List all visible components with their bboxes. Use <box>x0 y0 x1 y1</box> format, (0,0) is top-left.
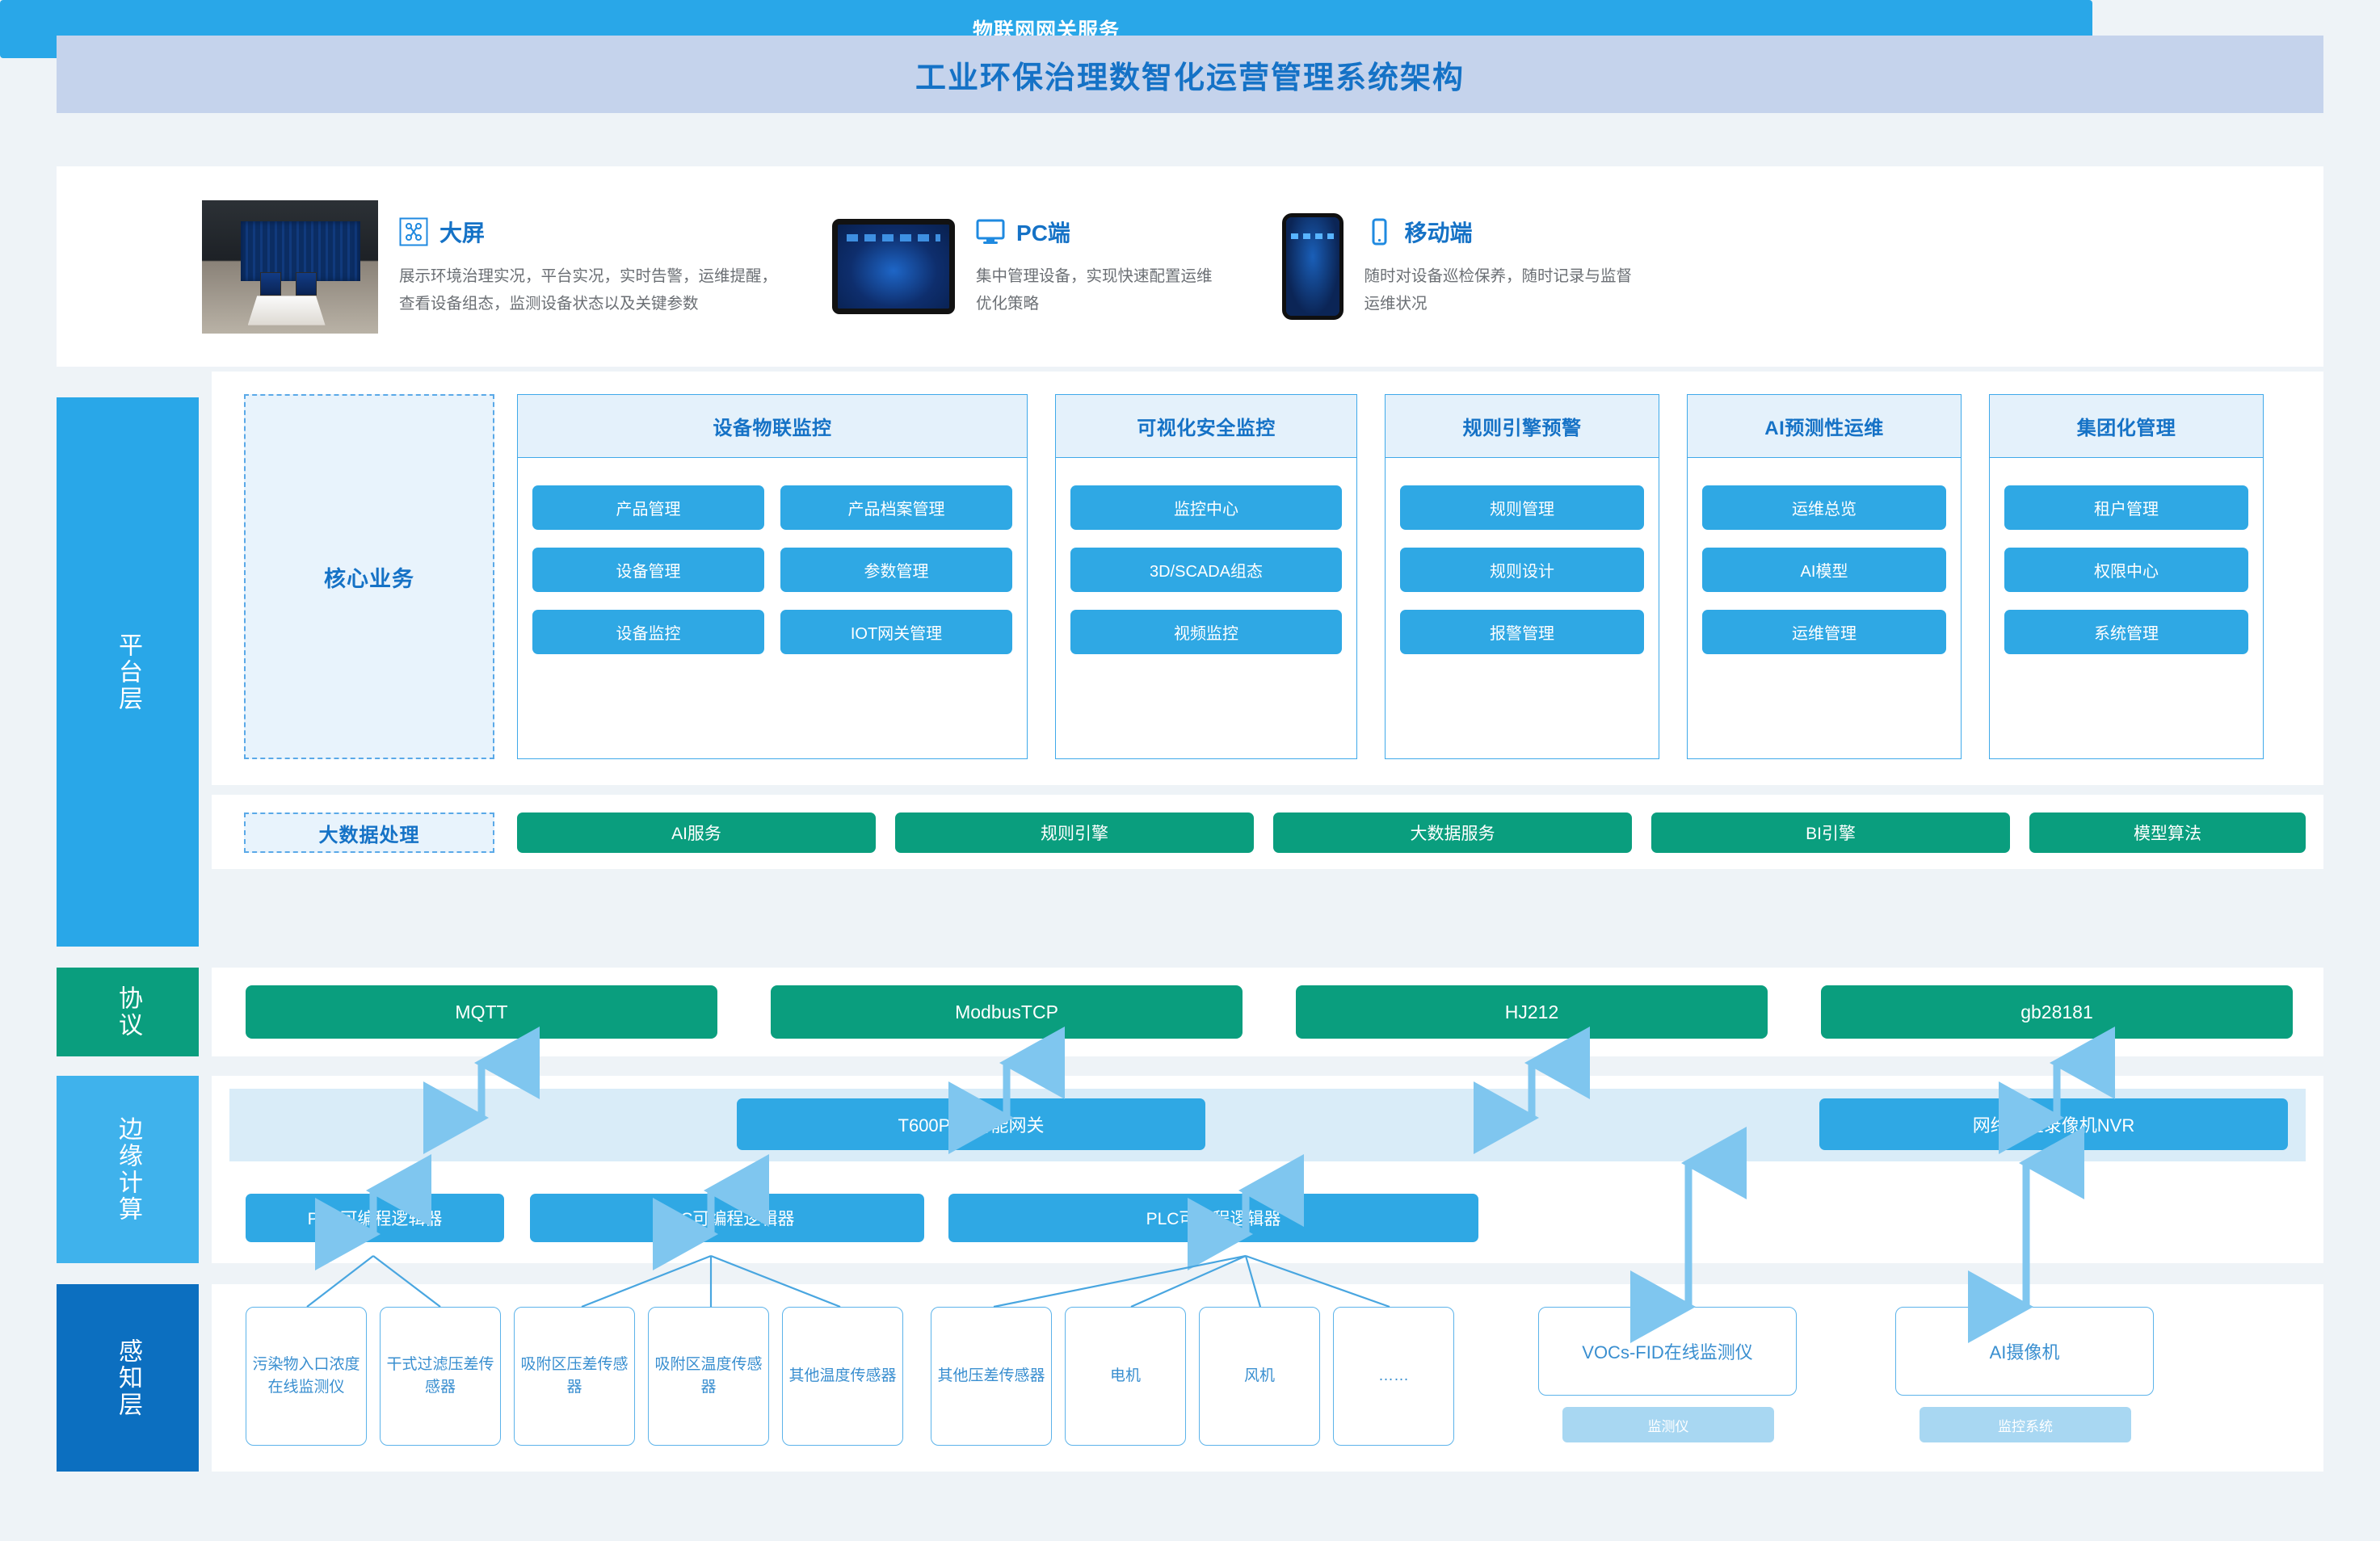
sensor-ai-camera[interactable]: AI摄像机 <box>1895 1307 2154 1396</box>
sensor-ai-camera-tag: 监控系统 <box>1920 1407 2131 1442</box>
module-item[interactable]: 视频监控 <box>1070 610 1342 654</box>
module-item[interactable]: 规则管理 <box>1400 485 1644 530</box>
sensor-other-dp[interactable]: 其他压差传感器 <box>931 1307 1052 1446</box>
module-item[interactable]: 监控中心 <box>1070 485 1342 530</box>
edge-gateway-nvr[interactable]: 网络硬盘录像机NVR <box>1819 1098 2288 1150</box>
module-item[interactable]: 租户管理 <box>2004 485 2248 530</box>
layer-label-edge: 边缘计算 <box>57 1076 199 1263</box>
page-title: 工业环保治理数智化运营管理系统架构 <box>915 52 1465 97</box>
terminal-desc-line1: 随时对设备巡检保养，随时记录与监督 <box>1365 262 1633 290</box>
protocol-hj212[interactable]: HJ212 <box>1296 985 1768 1039</box>
sensor-adsorption-dp[interactable]: 吸附区压差传感器 <box>514 1307 635 1446</box>
module-item[interactable]: 产品管理 <box>532 485 764 530</box>
module-item[interactable]: 报警管理 <box>1400 610 1644 654</box>
terminal-desc-line2: 优化策略 <box>976 290 1213 317</box>
bigdata-item-bigdata-svc[interactable]: 大数据服务 <box>1273 812 1632 853</box>
core-business-label: 核心业务 <box>324 561 414 593</box>
core-business-box: 核心业务 <box>244 394 494 759</box>
sensor-other-temp[interactable]: 其他温度传感器 <box>782 1307 903 1446</box>
module-device-iot-monitoring[interactable]: 设备物联监控 产品管理 产品档案管理 设备管理 参数管理 设备监控 IOT网关管… <box>517 394 1028 759</box>
sensor-fan[interactable]: 风机 <box>1199 1307 1320 1446</box>
edge-plc-2[interactable]: PLC可编程逻辑器 <box>530 1194 924 1242</box>
module-title: 集团化管理 <box>2077 412 2176 440</box>
edge-plc-3[interactable]: PLC可编程逻辑器 <box>948 1194 1478 1242</box>
bigdata-row-panel: 大数据处理 AI服务 规则引擎 大数据服务 BI引擎 模型算法 <box>212 795 2323 869</box>
platform-layer-panel: 核心业务 设备物联监控 产品管理 产品档案管理 设备管理 参数管理 设备监控 I… <box>212 372 2323 785</box>
module-item[interactable]: 系统管理 <box>2004 610 2248 654</box>
terminal-mobile: 移动端 随时对设备巡检保养，随时记录与监督 运维状况 <box>1213 166 1633 367</box>
sensor-inlet-concentration[interactable]: 污染物入口浓度在线监测仪 <box>246 1307 367 1446</box>
module-ai-predictive-maintenance[interactable]: AI预测性运维 运维总览 AI模型 运维管理 <box>1687 394 1962 759</box>
protocol-layer-panel: MQTT ModbusTCP HJ212 gb28181 <box>212 968 2323 1056</box>
terminal-name: 大屏 <box>439 216 485 248</box>
sensor-motor[interactable]: 电机 <box>1065 1307 1186 1446</box>
monitor-icon <box>976 217 1005 246</box>
edge-layer-panel: T600PLC智能网关 网络硬盘录像机NVR PLC可编程逻辑器 PLC可编程逻… <box>212 1076 2323 1263</box>
architecture-diagram: 工业环保治理数智化运营管理系统架构 大屏 展示环境治理实况，平台实况，实时告警，… <box>0 0 2380 1541</box>
layer-label-sensing: 感知层 <box>57 1284 199 1472</box>
sensing-layer-panel: 污染物入口浓度在线监测仪 干式过滤压差传感器 吸附区压差传感器 吸附区温度传感器… <box>212 1284 2323 1472</box>
module-item[interactable]: 设备监控 <box>532 610 764 654</box>
terminal-desc-line2: 运维状况 <box>1365 290 1633 317</box>
page-title-bar: 工业环保治理数智化运营管理系统架构 <box>57 36 2323 113</box>
module-visual-safety-monitoring[interactable]: 可视化安全监控 监控中心 3D/SCADA组态 视频监控 <box>1055 394 1357 759</box>
terminal-pc: PC端 集中管理设备，实现快速配置运维 优化策略 <box>777 166 1213 367</box>
sensor-more[interactable]: …… <box>1333 1307 1454 1446</box>
bigdata-label: 大数据处理 <box>319 819 420 847</box>
terminals-panel: 大屏 展示环境治理实况，平台实况，实时告警，运维提醒， 查看设备组态，监测设备状… <box>57 166 2323 367</box>
terminal-desc-line1: 展示环境治理实况，平台实况，实时告警，运维提醒， <box>399 262 777 290</box>
module-item[interactable]: 权限中心 <box>2004 548 2248 592</box>
module-item[interactable]: 参数管理 <box>780 548 1012 592</box>
sensor-dry-filter-dp[interactable]: 干式过滤压差传感器 <box>380 1307 501 1446</box>
pc-screenshot <box>777 219 955 314</box>
edge-plc-1[interactable]: PLC可编程逻辑器 <box>246 1194 504 1242</box>
bigdata-item-ai-service[interactable]: AI服务 <box>517 812 876 853</box>
big-screen-photo <box>57 200 378 334</box>
module-item[interactable]: 规则设计 <box>1400 548 1644 592</box>
sensor-adsorption-temp[interactable]: 吸附区温度传感器 <box>648 1307 769 1446</box>
terminal-desc-line2: 查看设备组态，监测设备状态以及关键参数 <box>399 290 777 317</box>
module-group-management[interactable]: 集团化管理 租户管理 权限中心 系统管理 <box>1989 394 2264 759</box>
module-item[interactable]: 设备管理 <box>532 548 764 592</box>
module-title: AI预测性运维 <box>1764 412 1884 440</box>
module-item[interactable]: IOT网关管理 <box>780 610 1012 654</box>
sensor-vocs-fid-tag: 监测仪 <box>1562 1407 1774 1442</box>
terminal-big-screen: 大屏 展示环境治理实况，平台实况，实时告警，运维提醒， 查看设备组态，监测设备状… <box>57 166 777 367</box>
mobile-screenshot <box>1213 213 1343 320</box>
module-item[interactable]: 产品档案管理 <box>780 485 1012 530</box>
layer-label-protocol: 协议 <box>57 968 199 1056</box>
module-title: 设备物联监控 <box>713 412 832 440</box>
module-item[interactable]: 3D/SCADA组态 <box>1070 548 1342 592</box>
protocol-mqtt[interactable]: MQTT <box>246 985 717 1039</box>
module-rule-engine-alert[interactable]: 规则引擎预警 规则管理 规则设计 报警管理 <box>1385 394 1659 759</box>
big-screen-icon <box>399 217 428 246</box>
terminal-name: 移动端 <box>1405 216 1473 248</box>
layer-label-platform: 平台层 <box>57 397 199 947</box>
edge-gateway-t600plc[interactable]: T600PLC智能网关 <box>737 1098 1205 1150</box>
bigdata-item-model-algo[interactable]: 模型算法 <box>2029 812 2306 853</box>
module-title: 可视化安全监控 <box>1137 412 1276 440</box>
mobile-icon <box>1365 217 1394 246</box>
module-title: 规则引擎预警 <box>1463 412 1582 440</box>
module-item[interactable]: 运维管理 <box>1702 610 1946 654</box>
bigdata-item-rule-engine[interactable]: 规则引擎 <box>895 812 1254 853</box>
sensor-vocs-fid[interactable]: VOCs-FID在线监测仪 <box>1538 1307 1797 1396</box>
bigdata-label-box: 大数据处理 <box>244 812 494 853</box>
module-item[interactable]: 运维总览 <box>1702 485 1946 530</box>
protocol-gb28181[interactable]: gb28181 <box>1821 985 2293 1039</box>
protocol-modbustcp[interactable]: ModbusTCP <box>771 985 1243 1039</box>
terminal-name: PC端 <box>1016 216 1070 248</box>
module-item[interactable]: AI模型 <box>1702 548 1946 592</box>
bigdata-item-bi-engine[interactable]: BI引擎 <box>1651 812 2010 853</box>
terminal-desc-line1: 集中管理设备，实现快速配置运维 <box>976 262 1213 290</box>
